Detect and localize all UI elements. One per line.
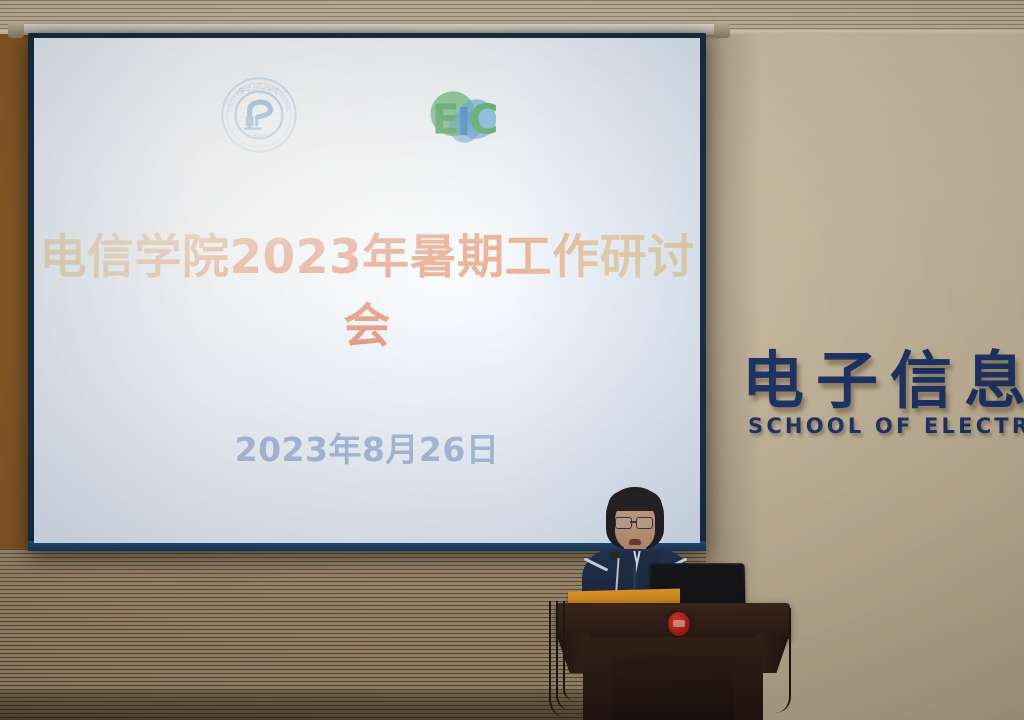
projection-screen: 电子科技大学 电子科技大学 UNIVERSITY OF ELECTRONIC E… bbox=[34, 38, 700, 543]
slide-date: 2023年8月26日 bbox=[34, 423, 700, 471]
glasses-left-lens bbox=[615, 517, 632, 529]
podium-emblem-inner bbox=[673, 620, 685, 627]
slide-logo-row: 电子科技大学 电子科技大学 UNIVERSITY OF ELECTRONIC E… bbox=[34, 72, 700, 192]
svg-text:E: E bbox=[432, 95, 460, 143]
podium-front-panel bbox=[612, 655, 734, 720]
eic-logo: E I C bbox=[416, 86, 508, 152]
cable bbox=[775, 608, 791, 713]
slide-title: 电信学院2023年暑期工作研讨会 bbox=[34, 218, 700, 356]
wall-sign-chinese: 电子信息 bbox=[742, 330, 1024, 420]
cable bbox=[563, 601, 575, 701]
wall-sign-english: SCHOOL OF ELECTRONIC I bbox=[748, 414, 1024, 438]
svg-text:C: C bbox=[469, 95, 499, 143]
glasses-bridge bbox=[630, 521, 636, 523]
roller-bracket-left bbox=[8, 22, 24, 38]
podium-emblem bbox=[668, 612, 690, 636]
uestc-seal-logo: 电子科技大学 电子科技大学 UNIVERSITY OF ELECTRONIC bbox=[220, 76, 298, 154]
presenter-fringe bbox=[608, 491, 662, 511]
glasses-right-lens bbox=[636, 517, 653, 529]
conference-room-photo: 电子科技大学 电子科技大学 UNIVERSITY OF ELECTRONIC E… bbox=[0, 0, 1024, 720]
microphone-head bbox=[611, 551, 618, 560]
roller-bracket-right bbox=[714, 22, 730, 38]
